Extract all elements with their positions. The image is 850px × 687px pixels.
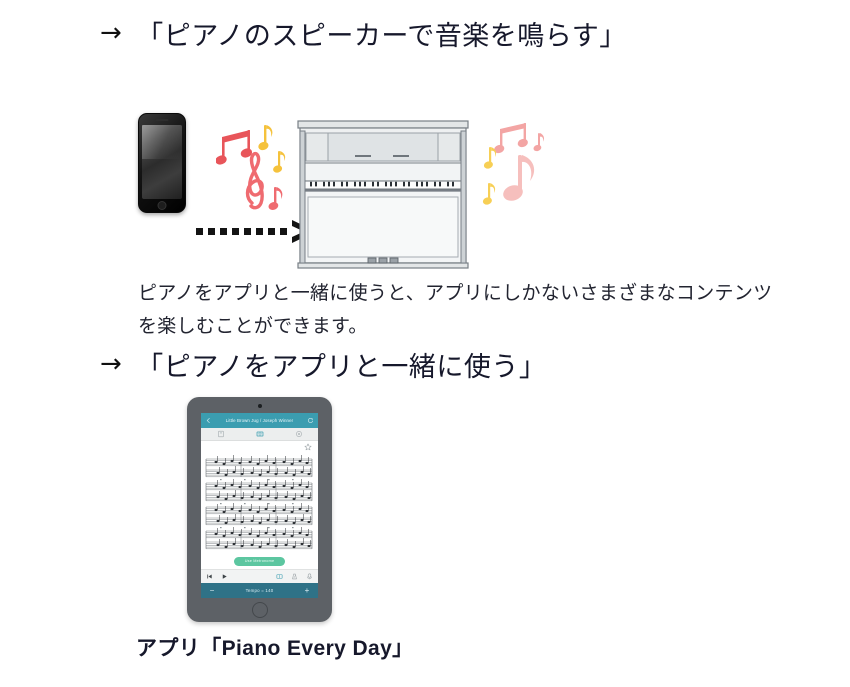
eighth-note-icon-yellow-2 bbox=[272, 151, 285, 174]
phone-home-button-icon bbox=[158, 201, 167, 210]
app-header-bar: Little Brown Jug / Joseph Winner bbox=[201, 413, 318, 428]
app-caption: アプリ「Piano Every Day」 bbox=[136, 632, 414, 662]
transport-bar bbox=[201, 569, 318, 583]
score-view-icon[interactable] bbox=[256, 430, 264, 438]
music-notes-right bbox=[480, 115, 552, 223]
quarter-note-icon-pink bbox=[501, 155, 534, 203]
arrow-right-icon: → bbox=[100, 20, 122, 46]
upright-piano-graphic bbox=[288, 117, 478, 277]
music-notes-left bbox=[216, 115, 296, 220]
section-heading-speaker: → 「ピアノのスピーカーで音楽を鳴らす」 bbox=[100, 14, 627, 53]
heading-label: 「ピアノのスピーカーで音楽を鳴らす」 bbox=[136, 14, 626, 53]
app-toolbar bbox=[201, 428, 318, 441]
phone-screen bbox=[142, 125, 182, 199]
metronome-icon[interactable] bbox=[291, 573, 298, 580]
eighth-note-icon-red bbox=[267, 187, 282, 211]
eighth-note-icon-pink-small bbox=[533, 133, 544, 152]
body-paragraph: ピアノをアプリと一緒に使うと、アプリにしかないさまざまなコンテンツを楽しむことが… bbox=[138, 277, 778, 344]
settings-icon[interactable] bbox=[295, 430, 303, 438]
tablet-screen: Little Brown Jug / Joseph Winner bbox=[201, 413, 318, 598]
eighth-note-icon-yellow-4 bbox=[482, 183, 495, 206]
eighth-note-icon-yellow-1 bbox=[257, 125, 272, 151]
use-metronome-button[interactable]: Use Metronome bbox=[234, 557, 286, 566]
treble-clef-icon bbox=[248, 154, 263, 208]
play-icon[interactable] bbox=[221, 573, 228, 580]
app-song-title: Little Brown Jug / Joseph Winner bbox=[215, 418, 304, 423]
record-icon[interactable] bbox=[306, 573, 313, 580]
beamed-eighth-notes-icon bbox=[216, 130, 253, 166]
tempo-bar: − Tempo = 140 + bbox=[201, 583, 318, 598]
sheet-music-score[interactable] bbox=[201, 452, 318, 556]
arrow-right-icon: → bbox=[100, 351, 122, 377]
tempo-decrease-button[interactable]: − bbox=[208, 587, 216, 595]
skip-back-icon[interactable] bbox=[206, 573, 213, 580]
favorite-row bbox=[201, 441, 318, 452]
smartphone-graphic bbox=[138, 113, 186, 213]
beamed-eighth-notes-icon-pink bbox=[493, 123, 529, 154]
phone-speaker-icon bbox=[156, 119, 169, 121]
heading-label: 「ピアノをアプリと一緒に使う」 bbox=[136, 345, 546, 384]
star-icon[interactable] bbox=[304, 443, 312, 451]
score-icon[interactable] bbox=[276, 573, 283, 580]
tablet-home-button-icon[interactable] bbox=[252, 602, 268, 618]
practice-button-row: Use Metronome bbox=[201, 556, 318, 569]
tempo-value-label: Tempo = 140 bbox=[246, 588, 274, 593]
tempo-increase-button[interactable]: + bbox=[303, 587, 311, 595]
piano-speaker-illustration bbox=[0, 55, 850, 240]
refresh-icon[interactable] bbox=[307, 417, 314, 424]
back-arrow-icon[interactable] bbox=[205, 417, 212, 424]
bookmark-icon[interactable] bbox=[217, 430, 225, 438]
eighth-note-icon-yellow-3 bbox=[483, 147, 496, 170]
section-heading-app: → 「ピアノをアプリと一緒に使う」 bbox=[100, 345, 546, 384]
phone-screen-glare bbox=[142, 125, 182, 159]
tablet-camera-icon bbox=[258, 404, 262, 408]
tablet-graphic: Little Brown Jug / Joseph Winner bbox=[187, 397, 332, 622]
